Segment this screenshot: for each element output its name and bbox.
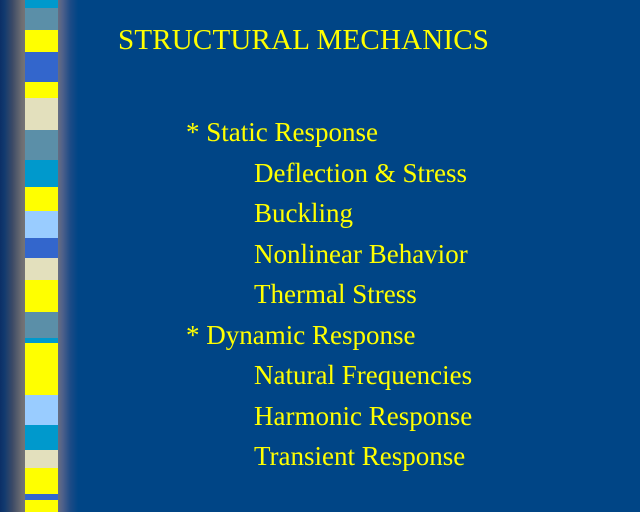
color-chip [25, 0, 58, 8]
color-chip [25, 258, 58, 280]
color-chip [25, 343, 58, 395]
color-chip [25, 395, 58, 425]
color-chip [25, 160, 58, 187]
bullet-line: * Static Response [186, 112, 472, 153]
color-chip [25, 30, 58, 52]
bullet-line: Natural Frequencies [254, 355, 472, 396]
bullet-line: * Dynamic Response [186, 315, 472, 356]
bullet-line: Deflection & Stress [254, 153, 472, 194]
bullet-list: * Static ResponseDeflection & StressBuck… [186, 112, 472, 477]
bullet-line: Thermal Stress [254, 274, 472, 315]
bullet-line: Transient Response [254, 436, 472, 477]
color-chip-strip [25, 0, 58, 512]
left-color-band [0, 0, 78, 512]
color-chip [25, 82, 58, 98]
bullet-line: Buckling [254, 193, 472, 234]
color-chip [25, 98, 58, 130]
color-chip [25, 211, 58, 238]
color-chip [25, 52, 58, 82]
color-chip [25, 425, 58, 450]
color-chip [25, 187, 58, 211]
color-chip [25, 238, 58, 258]
color-chip [25, 468, 58, 494]
color-chip [25, 280, 58, 312]
bullet-line: Nonlinear Behavior [254, 234, 472, 275]
color-chip [25, 312, 58, 338]
slide-canvas: STRUCTURAL MECHANICS * Static ResponseDe… [0, 0, 640, 512]
color-chip [25, 450, 58, 468]
color-chip [25, 8, 58, 30]
color-chip [25, 500, 58, 512]
color-chip [25, 130, 58, 160]
bullet-line: Harmonic Response [254, 396, 472, 437]
page-title: STRUCTURAL MECHANICS [118, 24, 489, 57]
